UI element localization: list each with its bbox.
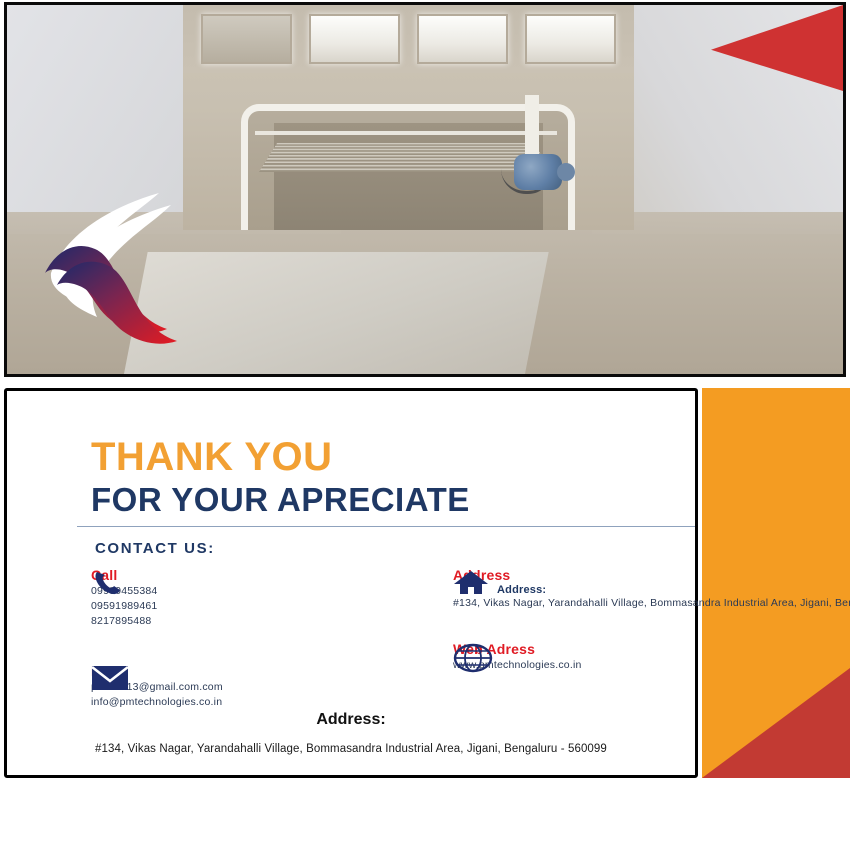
headline-thank-you: THANK YOU <box>91 437 470 477</box>
footer-address-title: Address: <box>7 711 695 729</box>
call-line: 09591989461 <box>91 599 391 614</box>
address-lines: #134, Vikas Nagar, Yarandahalli Village,… <box>453 596 713 611</box>
header-divider <box>77 526 695 527</box>
call-lines: 09980455384 09591989461 8217895488 <box>91 584 391 629</box>
mail-title: Mail <box>91 663 391 679</box>
headline-group: THANK YOU FOR YOUR APRECIATE <box>91 437 470 519</box>
contact-block-address: Address Address: #134, Vikas Nagar, Yara… <box>453 567 713 611</box>
thank-you-card: THANK YOU FOR YOUR APRECIATE CONTACT US:… <box>4 388 698 778</box>
call-line: 8217895488 <box>91 614 391 629</box>
contact-block-mail: Mail pmtech13@gmail.com.com info@pmtechn… <box>91 663 391 710</box>
slide-page: THANK YOU FOR YOUR APRECIATE CONTACT US:… <box>0 0 850 850</box>
address-subtitle: Address: <box>497 584 713 596</box>
contact-column-left: Call 09980455384 09591989461 8217895488 … <box>91 567 391 730</box>
photo-conveyor-rail <box>255 131 557 135</box>
pm-technologies-swoosh-logo <box>43 187 219 347</box>
address-line: #134, Vikas Nagar, Yarandahalli Village,… <box>453 596 713 611</box>
call-title: Call <box>91 567 391 583</box>
phone-icon <box>91 569 125 597</box>
photo-window-row <box>201 14 616 64</box>
call-line: 09980455384 <box>91 584 391 599</box>
contact-block-web: Web Adress www.pmtechnologies.co.in <box>453 641 713 673</box>
photo-machine-body <box>183 5 634 230</box>
photo-window <box>309 14 400 64</box>
mail-line: pmtech13@gmail.com.com <box>91 680 391 695</box>
contact-us-heading: CONTACT US: <box>95 540 215 557</box>
photo-window <box>417 14 508 64</box>
contact-block-call: Call 09980455384 09591989461 8217895488 <box>91 567 391 629</box>
home-icon <box>453 569 489 597</box>
photo-window <box>201 14 292 64</box>
contact-column-right: Address Address: #134, Vikas Nagar, Yara… <box>453 567 713 693</box>
photo-window <box>525 14 616 64</box>
photo-conveyor-belt <box>259 142 552 171</box>
photo-motor <box>514 154 562 190</box>
address-title: Address <box>453 567 713 583</box>
globe-icon <box>453 643 493 673</box>
photo-motor-cap <box>557 163 575 181</box>
envelope-icon <box>91 665 129 691</box>
mail-lines: pmtech13@gmail.com.com info@pmtechnologi… <box>91 680 391 710</box>
orange-accent-block <box>702 388 850 778</box>
footer-address-text: #134, Vikas Nagar, Yarandahalli Village,… <box>21 743 681 755</box>
photo-panel <box>4 2 846 377</box>
mail-line: info@pmtechnologies.co.in <box>91 695 391 710</box>
headline-appreciate: FOR YOUR APRECIATE <box>91 481 470 519</box>
